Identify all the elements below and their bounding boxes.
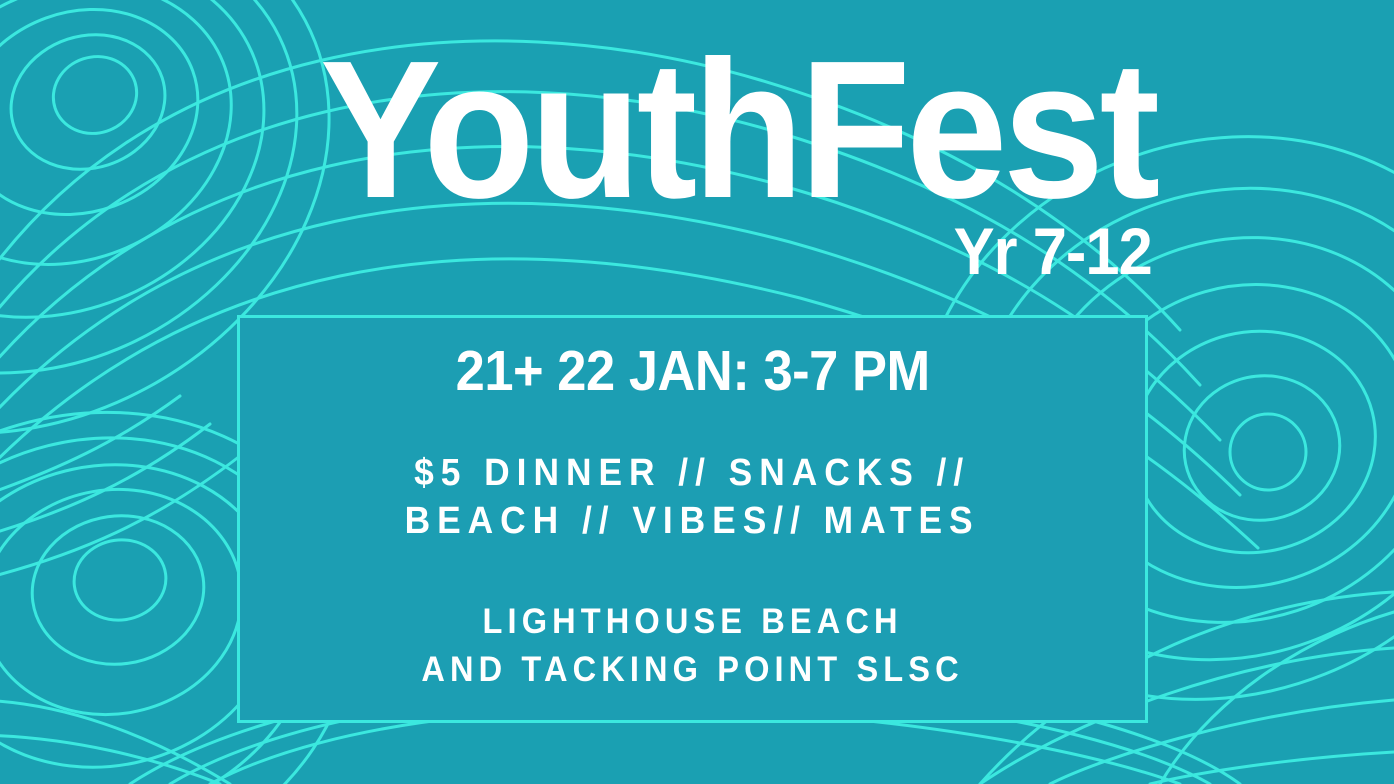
event-feature-line-1: $5 DINNER // SNACKS //	[405, 449, 980, 498]
poster-canvas: YouthFest Yr 7-12 21+ 22 JAN: 3-7 PM $5 …	[0, 0, 1394, 784]
event-venue-line-1: LIGHTHOUSE BEACH	[421, 598, 963, 646]
title-block: YouthFest Yr 7-12	[0, 34, 1163, 284]
event-details-box: 21+ 22 JAN: 3-7 PM $5 DINNER // SNACKS /…	[237, 315, 1148, 723]
event-date-time: 21+ 22 JAN: 3-7 PM	[455, 340, 929, 403]
poster-content: YouthFest Yr 7-12 21+ 22 JAN: 3-7 PM $5 …	[0, 0, 1394, 784]
event-venue-line-2: AND TACKING POINT SLSC	[421, 646, 963, 694]
page-title: YouthFest	[81, 34, 1163, 226]
year-range-subtitle: Yr 7-12	[81, 218, 1163, 284]
event-features-list: $5 DINNER // SNACKS // BEACH // VIBES// …	[405, 449, 980, 546]
event-feature-line-2: BEACH // VIBES// MATES	[405, 497, 980, 546]
event-venue: LIGHTHOUSE BEACH AND TACKING POINT SLSC	[421, 598, 963, 693]
